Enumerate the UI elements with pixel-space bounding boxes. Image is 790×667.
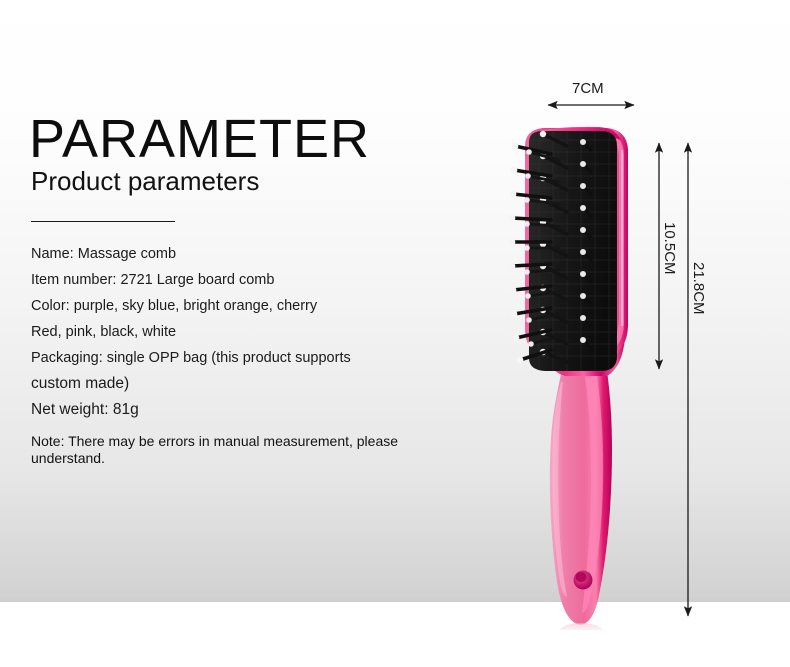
spec-list: Name: Massage comb Item number: 2721 Lar… <box>31 241 461 423</box>
head-height-dimension-label: 10.5CM <box>661 222 678 275</box>
product-image <box>495 120 675 630</box>
product-parameter-page: PARAMETER Product parameters Name: Massa… <box>0 0 790 667</box>
spec-color-1: Color: purple, sky blue, bright orange, … <box>31 293 461 319</box>
spec-color-2: Red, pink, black, white <box>31 319 461 345</box>
spec-name: Name: Massage comb <box>31 241 461 267</box>
page-subtitle: Product parameters <box>31 167 259 195</box>
spec-packaging-1: Packaging: single OPP bag (this product … <box>31 345 461 371</box>
spec-packaging-2: custom made) <box>31 371 461 397</box>
width-dimension-label: 7CM <box>572 80 604 97</box>
brush-handle <box>550 356 612 624</box>
handle-reflection <box>559 623 603 630</box>
title-divider <box>31 221 175 222</box>
brush-cushion-pad <box>525 125 625 375</box>
bristle-tips-front <box>509 143 524 364</box>
page-title: PARAMETER <box>29 112 370 166</box>
spec-net-weight: Net weight: 81g <box>31 397 461 423</box>
spec-item-number: Item number: 2721 Large board comb <box>31 267 461 293</box>
measurement-note: Note: There may be errors in manual meas… <box>31 433 451 467</box>
total-length-dimension-label: 21.8CM <box>690 262 707 315</box>
